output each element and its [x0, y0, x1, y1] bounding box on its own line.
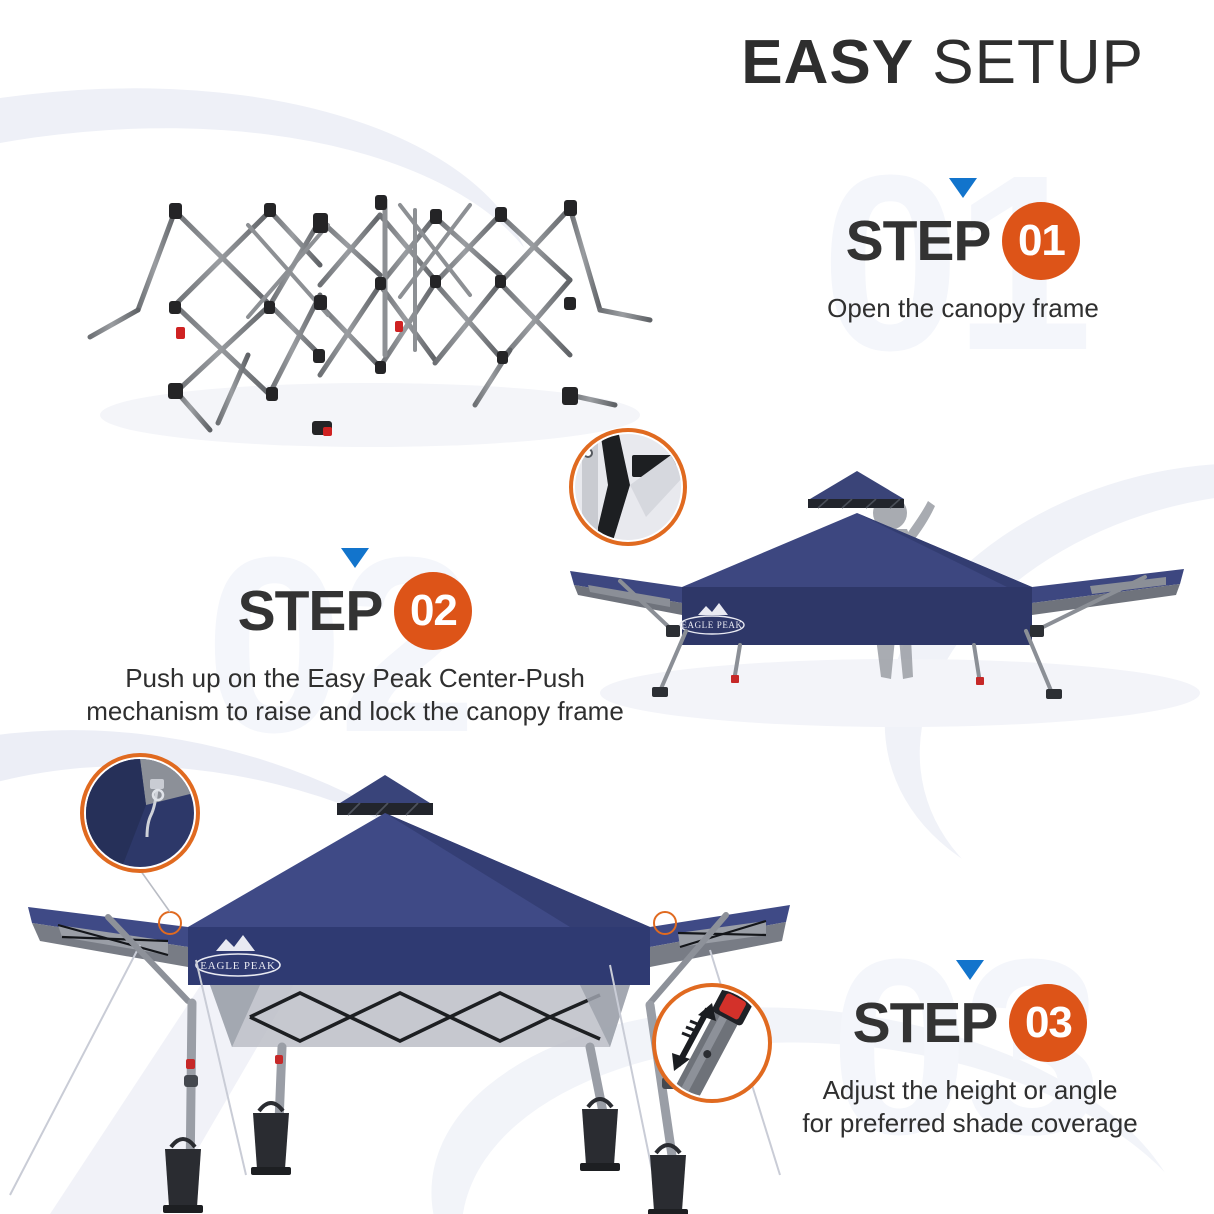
- canopy-full-setup: EAGLE PEAK: [10, 755, 800, 1214]
- svg-text:EAGLE PEAK: EAGLE PEAK: [681, 620, 742, 630]
- step-caption-2: Push up on the Easy Peak Center-Push mec…: [75, 662, 635, 727]
- hook-anchor-detail: [82, 755, 198, 871]
- step-block-1: 01 STEP 01 Open the canopy frame: [773, 178, 1153, 325]
- step-number-badge-3: 03: [1009, 984, 1087, 1062]
- down-triangle-icon: [949, 178, 977, 198]
- infographic-canvas: EASY SETUP: [0, 0, 1214, 1214]
- step-label-3: STEP: [853, 995, 998, 1052]
- title-light: SETUP: [914, 28, 1144, 97]
- down-triangle-icon: [341, 548, 369, 568]
- step-caption-3: Adjust the height or angle for preferred…: [770, 1074, 1170, 1139]
- step-block-2: 02 STEP 02 Push up on the Easy Peak Cent…: [75, 548, 635, 727]
- velcro-strap-detail: [571, 430, 685, 544]
- svg-text:EAGLE PEAK: EAGLE PEAK: [200, 960, 276, 972]
- collapsed-canopy-frame: [70, 105, 670, 450]
- step-number-badge-1: 01: [1002, 202, 1080, 280]
- step-caption-1: Open the canopy frame: [773, 292, 1153, 325]
- step-number-badge-2: 02: [394, 572, 472, 650]
- page-title: EASY SETUP: [741, 32, 1144, 94]
- title-bold: EASY: [741, 28, 914, 97]
- step-label-1: STEP: [846, 213, 991, 270]
- down-triangle-icon: [956, 960, 984, 980]
- step-block-3: 03 STEP 03 Adjust the height or angle fo…: [770, 960, 1170, 1139]
- push-button-leg-detail: [654, 977, 770, 1111]
- canopy-raised-with-person: EAGLE PEAK: [560, 425, 1214, 735]
- step-label-2: STEP: [238, 583, 383, 640]
